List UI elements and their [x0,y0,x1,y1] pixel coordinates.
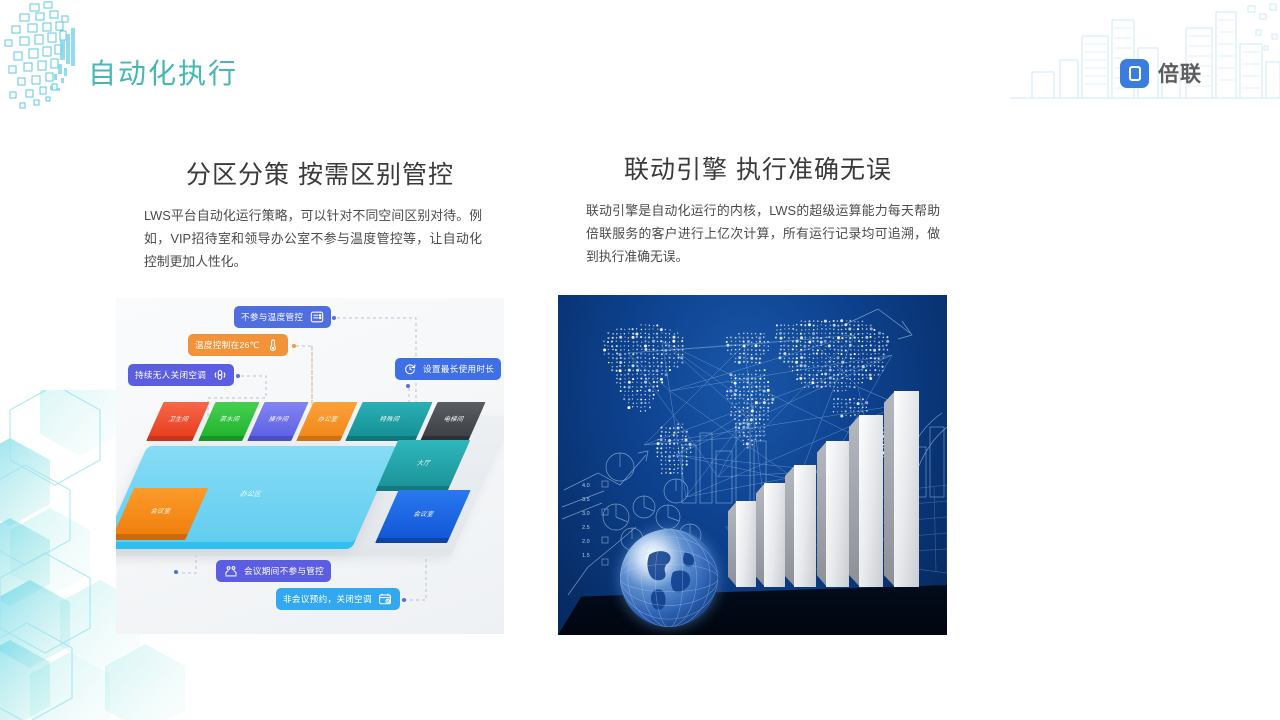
connector-dot [292,344,296,348]
slide-canvas: 自动化执行 倍联 分区分策 按需区别管控 LWS平台自动化运行策略，可以针对不同… [0,0,1280,720]
rounded-square-logo-icon [1120,59,1149,88]
rule-label: 设置最长使用时长 [423,363,494,375]
room-label: 卫生间 [168,414,192,423]
rule-label: 会议期间不参与管控 [244,565,324,577]
connector-dot [174,570,178,574]
rule-pill-unoccupied-off[interactable]: 持续无人关闭空调 [128,364,234,386]
connector-dot [406,384,410,388]
calendar-clock-icon [378,592,393,607]
page-title: 自动化执行 [88,52,238,92]
column-engine: 联动引擎 执行准确无误 联动引擎是自动化运行的内核，LWS的超级运算能力每天帮助… [558,150,948,268]
3d-globe [620,529,718,627]
rule-label: 不参与温度管控 [241,311,303,323]
rule-pill-max-duration[interactable]: 设置最长使用时长 [395,358,501,380]
document-list-icon [309,310,324,325]
svg-text:2.5: 2.5 [582,525,590,531]
room-label: 办公区 [239,488,264,498]
svg-text:4.0: 4.0 [582,483,590,489]
room-label: 茶水间 [219,414,243,423]
thermometer-icon [266,338,281,353]
meeting-room-icon [223,564,238,579]
room-label: 特殊间 [379,414,403,423]
brand-logo: 倍联 [1120,58,1202,88]
rule-label: 持续无人关闭空调 [135,369,206,381]
bar-column [894,391,919,587]
rule-pill-temp-26[interactable]: 温度控制在26℃ [188,334,288,356]
rule-pill-meeting-exempt[interactable]: 会议期间不参与管控 [216,560,331,582]
room-label: 会议室 [150,506,174,515]
city-skyline-outline-decoration [1010,0,1280,110]
room-label: 办公室 [317,414,341,423]
connector-dot [236,374,240,378]
svg-text:1.5: 1.5 [582,553,590,559]
zoned-automation-floorplan: 卫生间 茶水间 操作间 办公室 特殊间 电梯间 办公区 大厅 会议室 [116,298,504,634]
bar-column [764,483,785,587]
room-label: 电梯间 [443,414,467,423]
connector-dot [402,598,406,602]
zoning-heading: 分区分策 按需区别管控 [116,155,508,191]
column-zoning: 分区分策 按需区别管控 LWS平台自动化运行策略，可以针对不同空间区别对待。例如… [116,155,508,273]
bar-column [794,465,816,587]
engine-body: 联动引擎是自动化运行的内核，LWS的超级运算能力每天帮助倍联服务的客户进行上亿次… [558,200,948,268]
svg-text:3.0: 3.0 [582,511,590,517]
room-label: 大厅 [416,458,433,467]
svg-text:3.5: 3.5 [582,497,590,503]
rule-pill-no-booking-off[interactable]: 非会议预约，关闭空调 [276,588,400,610]
rule-pill-no-temp-control[interactable]: 不参与温度管控 [234,306,331,328]
pixel-mosaic-decoration [0,0,100,115]
bar-column [826,441,849,587]
connector-dot [332,316,336,320]
bar-column [859,415,883,587]
motion-sensor-icon [212,368,227,383]
timer-clock-icon [402,362,417,377]
zoning-body: LWS平台自动化运行策略，可以针对不同空间区别对待。例如，VIP招待室和领导办公… [116,205,508,273]
room-label: 操作间 [268,414,292,423]
bar-column [736,501,756,587]
room-label: 会议室 [413,509,437,518]
global-analytics-visual: 4.03.53.0 2.52.01.5 [558,295,947,635]
logo-inner-shape [1129,66,1141,81]
svg-text:2.0: 2.0 [582,539,590,545]
rule-label: 温度控制在26℃ [195,339,260,351]
brand-name: 倍联 [1158,58,1202,88]
rule-label: 非会议预约，关闭空调 [283,593,372,605]
engine-heading: 联动引擎 执行准确无误 [558,150,948,186]
